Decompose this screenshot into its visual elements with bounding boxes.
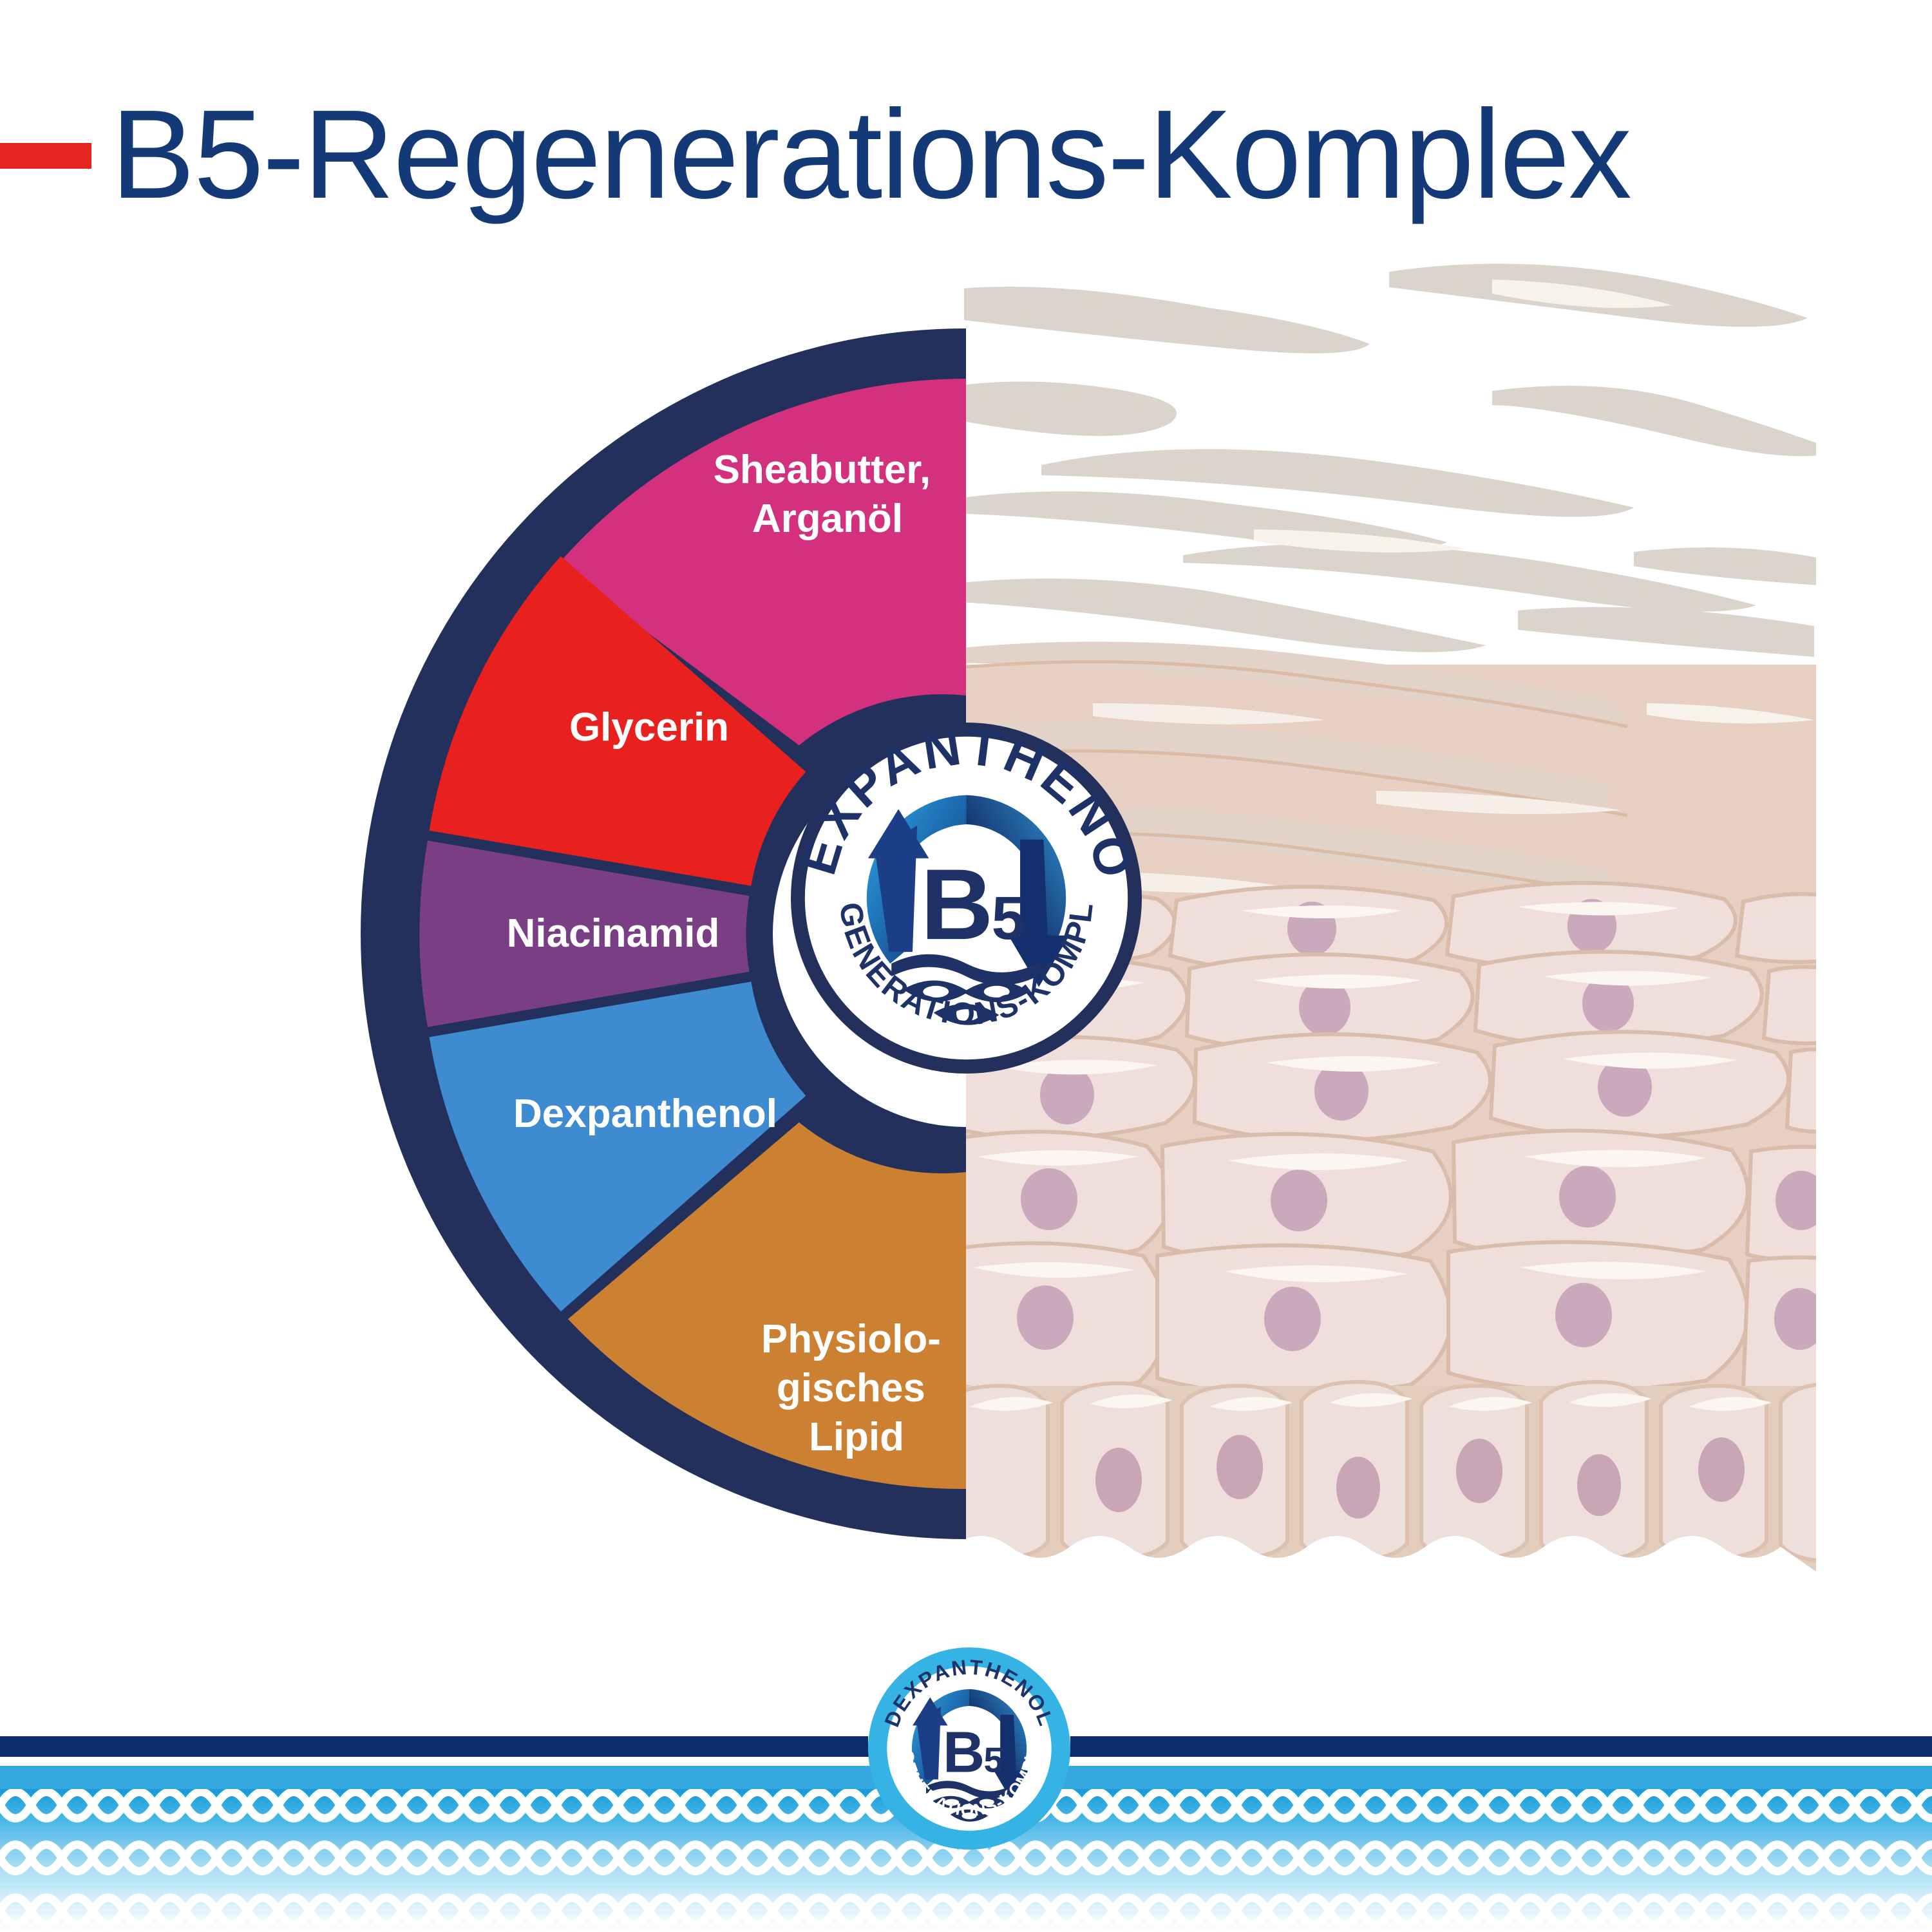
segment-label-glycerin: Glycerin	[569, 705, 729, 750]
svg-text:B: B	[943, 1721, 985, 1785]
segment-label-dexpanthenol: Dexpanthenol	[513, 1092, 777, 1136]
header: B5-Regenerations-Komplex	[0, 0, 1932, 232]
segment-label-niacinamid: Niacinamid	[507, 911, 720, 956]
svg-text:B: B	[921, 849, 994, 961]
dexpanthenol-b5-footer-seal: B 5 DEXPANTHENOL REGENERATIONS-KOMPLEX	[868, 1647, 1070, 1850]
infographic-canvas: B5-Regenerations-Komplex	[0, 0, 1932, 1932]
stratum-basale	[964, 1382, 1816, 1574]
page-title: B5-Regenerations-Komplex	[111, 90, 1631, 219]
dexpanthenol-b5-seal: B 5 DEXPANTHENOL REGENERATIONS-KOMPLEX	[791, 723, 1142, 1074]
accent-dash-icon	[0, 143, 91, 169]
svg-text:5: 5	[984, 1741, 1003, 1780]
svg-text:5: 5	[992, 884, 1026, 952]
